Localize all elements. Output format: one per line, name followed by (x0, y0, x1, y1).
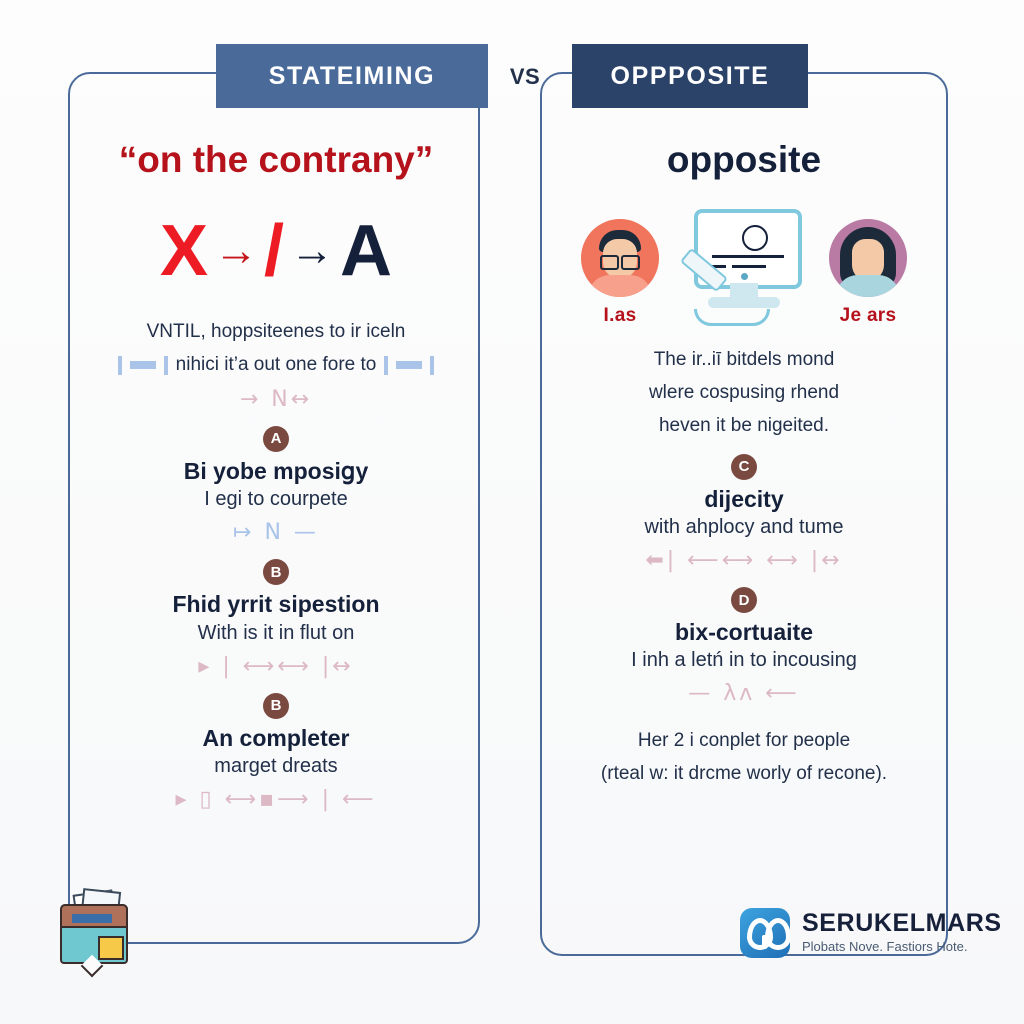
monitor-power-dot (741, 273, 748, 280)
left-intro-line-2: nihici it’a out one fore to (176, 352, 377, 379)
screen-line (732, 265, 766, 268)
vs-label: VS (492, 60, 558, 94)
right-closing-line-2: (rteal w: it drсme worly of recone). (548, 761, 940, 788)
left-section-c-separator-icon: ▸ ▯ ⟷▪⟶ | ⟵ (76, 787, 476, 812)
monitor-base (708, 297, 780, 308)
brand-tagline: Plobats Nove. Fastiors Hote. (802, 939, 1002, 956)
left-section-c: B An completer marget dreats ▸ ▯ ⟷▪⟶ | ⟵ (76, 693, 476, 812)
left-intro-separator-icon: → N↔ (76, 387, 476, 412)
formula-term-x: X (160, 215, 208, 287)
left-title: “on the contrany” (76, 140, 476, 181)
male-avatar-icon (581, 219, 659, 297)
badge-b: B (263, 559, 289, 585)
right-section-d-separator-icon: — λʌ ⟵ (548, 681, 940, 706)
briefcase-card (98, 936, 124, 960)
right-intro-line-3: heven it be nigeited. (548, 413, 940, 440)
right-section-c: C dijecity with ahplocy and tume ⬅| ⟵⟷ ⟷… (548, 454, 940, 573)
left-intro-line-1: VNTIL, hoppsiteenes to ir iceln (76, 319, 476, 346)
decor-bar-icon (118, 356, 122, 375)
right-section-d-title: bix-cortuaite (548, 619, 940, 645)
left-header-label: STATEIMING (269, 62, 435, 91)
left-section-a-subtitle: I egi to courpete (76, 486, 476, 512)
brand-logo: SERUKELMARS Plobats Nove. Fastiors Hote. (740, 908, 1002, 958)
right-panel-header-tab: OPPPOSITE (572, 44, 808, 108)
decor-bar-icon (396, 361, 422, 369)
badge-a: A (263, 426, 289, 452)
brand-text-block: SERUKELMARS Plobats Nove. Fastiors Hote. (802, 910, 1002, 956)
cable-cord-icon (694, 309, 770, 326)
right-header-label: OPPPOSITE (611, 62, 770, 91)
person-right-label: Je ars (840, 305, 897, 327)
briefcase-with-papers-icon (52, 890, 132, 968)
right-section-c-title: dijecity (548, 486, 940, 512)
left-panel-header-tab: STATEIMING (216, 44, 488, 108)
formula-arrow-1-icon: → (214, 229, 258, 273)
decor-bar-icon (384, 356, 388, 375)
person-left: I.as (572, 219, 668, 327)
left-section-c-subtitle: marget dreats (76, 753, 476, 779)
right-title: opposite (548, 140, 940, 181)
screen-line (712, 255, 784, 258)
left-column: “on the contrany” X → / → A VNTIL, hopps… (76, 140, 476, 816)
left-section-a: A Bi yobe mposiցy I egi to courpete ↦ N … (76, 426, 476, 545)
body-shape (588, 275, 652, 297)
left-section-b: B Fhid yrrit sipestion With is it in flu… (76, 559, 476, 678)
body-shape (836, 275, 900, 297)
formula-row: X → / → A (76, 205, 476, 297)
left-section-a-title: Bi yobe mposiցy (76, 458, 476, 484)
right-intro-line-1: The ir..iī bitdels mond (548, 347, 940, 374)
right-section-d-subtitle: I inh a letń in to incousing (548, 647, 940, 673)
right-column: opposite I.as (548, 140, 940, 794)
right-intro-line-2: wlere cospusing rhend (548, 380, 940, 407)
formula-term-a: A (340, 215, 392, 287)
decor-bar-icon (430, 356, 434, 375)
right-closing-line-1: Her 2 i conplet for people (548, 728, 940, 755)
right-section-d: D bix-cortuaite I inh a letń in to incou… (548, 587, 940, 706)
people-illustration-row: I.as (548, 199, 940, 327)
left-section-a-separator-icon: ↦ N — (76, 520, 476, 545)
brand-name: SERUKELMARS (802, 910, 1002, 938)
formula-arrow-2-icon: → (290, 229, 334, 273)
briefcase-lock (72, 914, 112, 923)
monitor-illustration-icon (684, 205, 804, 327)
badge-c: C (731, 454, 757, 480)
formula-term-slash: / (264, 215, 284, 287)
left-section-b-title: Fhid yrrit sipestion (76, 591, 476, 617)
left-section-c-title: An completer (76, 725, 476, 751)
glasses-icon (600, 255, 640, 266)
screen-glyph-icon (742, 225, 768, 251)
brand-mark-icon (740, 908, 790, 958)
badge-b-second: B (263, 693, 289, 719)
left-section-b-subtitle: With is it in flut on (76, 620, 476, 646)
decor-bar-icon (164, 356, 168, 375)
person-right: Je ars (820, 219, 916, 327)
right-section-c-separator-icon: ⬅| ⟵⟷ ⟷ |↔ (548, 548, 940, 573)
left-intro-line-2-row: nihici it’a out one fore to (76, 352, 476, 379)
right-section-c-subtitle: with ahplocy and tume (548, 514, 940, 540)
decor-bar-icon (130, 361, 156, 369)
female-avatar-icon (829, 219, 907, 297)
left-section-b-separator-icon: ▸ | ⟷⟷ |↔ (76, 654, 476, 679)
infographic-canvas: STATEIMING VS OPPPOSITE “on the contrany… (0, 0, 1024, 1024)
badge-d: D (731, 587, 757, 613)
person-left-label: I.as (604, 305, 637, 327)
